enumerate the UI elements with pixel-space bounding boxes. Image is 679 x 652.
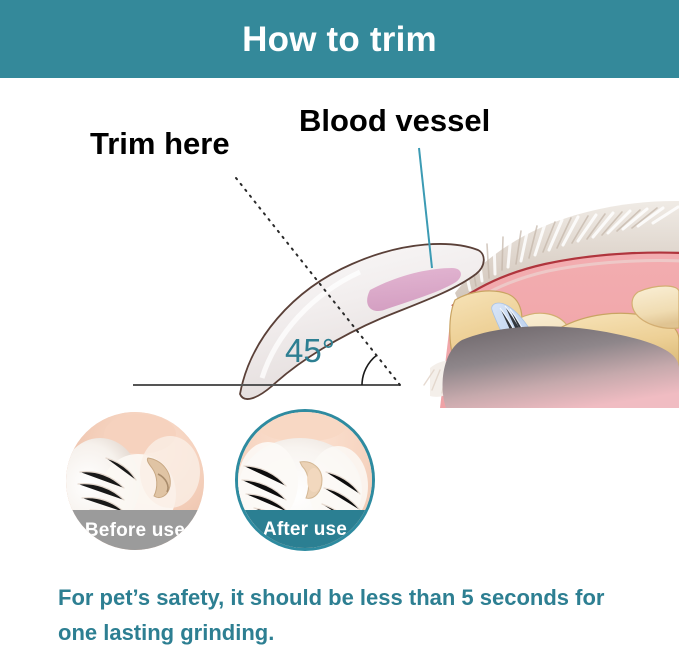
header-bar: How to trim bbox=[0, 0, 679, 78]
safety-footnote: For pet’s safety, it should be less than… bbox=[58, 580, 638, 650]
caption-after-use: After use bbox=[238, 510, 372, 548]
label-blood-vessel: Blood vessel bbox=[299, 105, 490, 136]
caption-before-use: Before use bbox=[66, 510, 204, 550]
how-to-trim-infographic: How to trim bbox=[0, 0, 679, 652]
page-title: How to trim bbox=[242, 22, 437, 57]
photo-after-use: After use bbox=[238, 412, 372, 548]
label-angle-45: 45° bbox=[285, 334, 335, 367]
angle-arc bbox=[362, 355, 377, 385]
label-trim-here: Trim here bbox=[90, 128, 230, 159]
photo-before-use: Before use bbox=[66, 412, 204, 550]
